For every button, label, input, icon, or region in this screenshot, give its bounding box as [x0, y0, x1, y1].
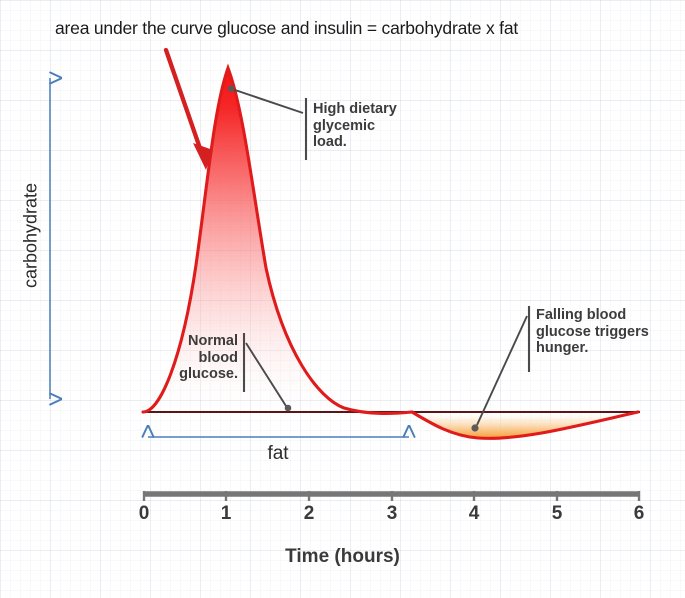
annotation-peak-label: High dietary glycemic load. — [313, 101, 433, 151]
x-tick-1: 1 — [213, 503, 239, 525]
x-axis — [143, 491, 640, 501]
x-tick-4: 4 — [461, 503, 487, 525]
x-tick-5: 5 — [544, 503, 570, 525]
y-axis-title: carbohydrate — [21, 156, 42, 316]
chart-graphics — [0, 0, 685, 598]
x-tick-3: 3 — [379, 503, 405, 525]
fat-span-label: fat — [198, 443, 358, 465]
annotation-dip-label: Falling blood glucose triggers hunger. — [536, 307, 676, 357]
title-emphasis-arrow — [166, 50, 213, 170]
x-tick-2: 2 — [296, 503, 322, 525]
chart-canvas: area under the curve glucose and insulin… — [0, 0, 685, 598]
x-tick-0: 0 — [131, 503, 157, 525]
annotation-baseline-label: Normal blood glucose. — [120, 333, 238, 383]
x-tick-6: 6 — [626, 503, 652, 525]
x-axis-title: Time (hours) — [0, 546, 685, 568]
